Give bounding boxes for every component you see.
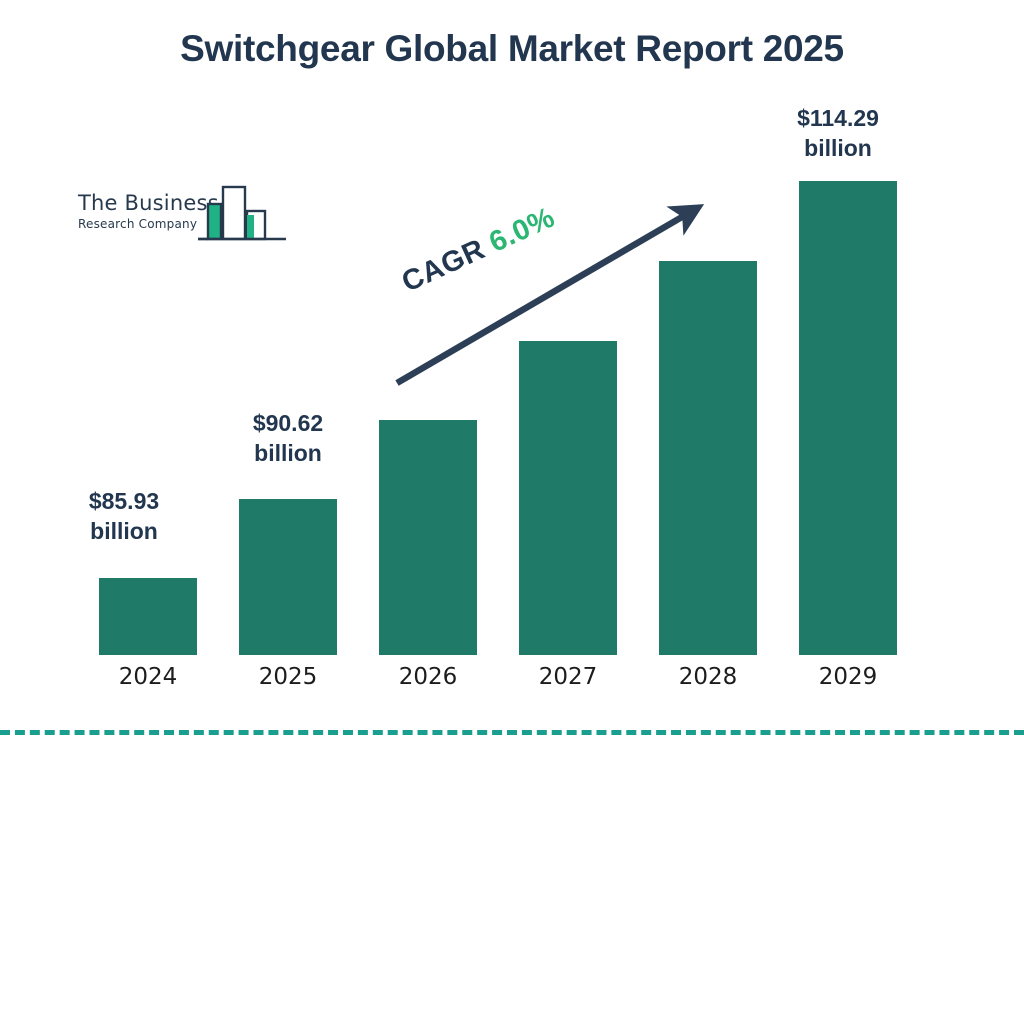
bar-value-label-2029: $114.29 billion	[754, 104, 922, 164]
bar-2024[interactable]	[99, 578, 197, 655]
x-tick-2025: 2025	[239, 664, 337, 690]
x-tick-2027: 2027	[519, 664, 617, 690]
chart-canvas: Switchgear Global Market Report 2025 The…	[0, 0, 1024, 768]
bar-value-label-2025-line1: $90.62	[214, 409, 362, 439]
bar-value-label-2029-line2: billion	[754, 134, 922, 164]
bar-2026[interactable]	[379, 420, 477, 655]
bar-value-label-2024-line2: billion	[50, 517, 198, 547]
x-tick-2028: 2028	[659, 664, 757, 690]
bar-value-label-2025: $90.62 billion	[214, 409, 362, 469]
bar-value-label-2025-line2: billion	[214, 439, 362, 469]
bar-2029[interactable]	[799, 181, 897, 655]
bar-chart-plot: $85.93 billion $90.62 billion $114.29 bi…	[0, 0, 1024, 768]
x-tick-2026: 2026	[379, 664, 477, 690]
bar-2028[interactable]	[659, 261, 757, 655]
bar-2027[interactable]	[519, 341, 617, 655]
bar-value-label-2024-line1: $85.93	[50, 487, 198, 517]
bar-value-label-2029-line1: $114.29	[754, 104, 922, 134]
cagr-annotation: CAGR 6.0%	[397, 201, 560, 299]
bar-2025[interactable]	[239, 499, 337, 655]
x-tick-2029: 2029	[799, 664, 897, 690]
cagr-value: 6.0%	[484, 201, 559, 258]
bar-value-label-2024: $85.93 billion	[50, 487, 198, 547]
cagr-label: CAGR	[397, 233, 490, 298]
x-tick-2024: 2024	[99, 664, 197, 690]
footer-divider	[0, 730, 1024, 735]
